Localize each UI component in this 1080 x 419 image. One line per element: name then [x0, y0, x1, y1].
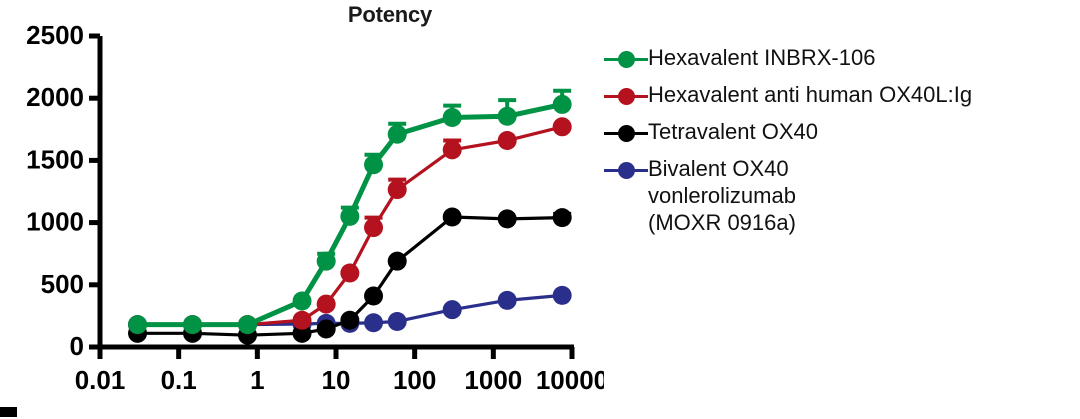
legend-dot-icon — [618, 162, 635, 179]
data-point — [317, 252, 336, 271]
legend-item-3[interactable]: Bivalent OX40 vonlerolizumab (MOXR 0916a… — [604, 155, 1074, 236]
x-tick-labels: 0.010.1110100100010000 — [75, 365, 604, 395]
data-point — [553, 286, 572, 305]
data-point — [238, 315, 257, 334]
data-point — [364, 313, 383, 332]
x-tick-label: 10000 — [536, 365, 604, 395]
legend-item-label: Hexavalent anti human OX40L:Ig — [648, 81, 972, 108]
data-point — [340, 311, 359, 330]
legend-marker-icon — [604, 46, 648, 72]
chart-legend: Hexavalent INBRX-106Hexavalent anti huma… — [604, 44, 1074, 245]
legend-item-label: Bivalent OX40 vonlerolizumab (MOXR 0916a… — [648, 155, 796, 236]
y-tick-label: 2500 — [26, 20, 84, 50]
x-tick-label: 0.1 — [161, 365, 197, 395]
plot-area: 0.010.1110100100010000 05001000150020002… — [0, 0, 604, 419]
x-tick-label: 100 — [393, 365, 436, 395]
y-tick-labels: 05001000150020002500 — [26, 20, 84, 361]
legend-item-1[interactable]: Hexavalent anti human OX40L:Ig — [604, 81, 1074, 109]
y-tick-label: 2000 — [26, 82, 84, 112]
series-group — [128, 91, 572, 345]
legend-item-label: Tetravalent OX40 — [648, 118, 818, 145]
corner-mark — [0, 407, 17, 417]
data-point — [498, 131, 517, 150]
data-point — [317, 319, 336, 338]
x-tick-label: 10 — [322, 365, 351, 395]
x-tick-label: 1 — [250, 365, 264, 395]
data-point — [498, 107, 517, 126]
y-tick-label: 500 — [41, 269, 84, 299]
data-point — [498, 291, 517, 310]
data-point — [553, 117, 572, 136]
data-point — [443, 108, 462, 127]
data-point — [443, 300, 462, 319]
y-tick-label: 0 — [70, 331, 84, 361]
legend-dot-icon — [618, 125, 635, 142]
data-point — [340, 263, 359, 282]
data-point — [498, 209, 517, 228]
data-point — [183, 315, 202, 334]
data-point — [364, 286, 383, 305]
legend-marker-icon — [604, 157, 648, 183]
data-point — [443, 140, 462, 159]
data-point — [388, 252, 407, 271]
legend-marker-icon — [604, 83, 648, 109]
x-tick-label: 1000 — [464, 365, 522, 395]
legend-marker-icon — [604, 120, 648, 146]
data-point — [388, 312, 407, 331]
data-point — [388, 180, 407, 199]
data-point — [340, 207, 359, 226]
data-point — [293, 311, 312, 330]
data-point — [553, 95, 572, 114]
data-point — [553, 208, 572, 227]
data-point — [388, 125, 407, 144]
data-point — [443, 208, 462, 227]
legend-dot-icon — [618, 88, 635, 105]
data-point — [317, 295, 336, 314]
y-tick-label: 1000 — [26, 207, 84, 237]
legend-item-label: Hexavalent INBRX-106 — [648, 44, 875, 71]
data-point — [364, 155, 383, 174]
x-tick-label: 0.01 — [75, 365, 126, 395]
legend-item-0[interactable]: Hexavalent INBRX-106 — [604, 44, 1074, 72]
legend-item-2[interactable]: Tetravalent OX40 — [604, 118, 1074, 146]
legend-dot-icon — [618, 51, 635, 68]
data-point — [364, 218, 383, 237]
y-tick-label: 1500 — [26, 144, 84, 174]
potency-figure: Potency 0.010.1110100100010000 050010001… — [0, 0, 1080, 419]
data-point — [128, 315, 147, 334]
data-point — [293, 291, 312, 310]
